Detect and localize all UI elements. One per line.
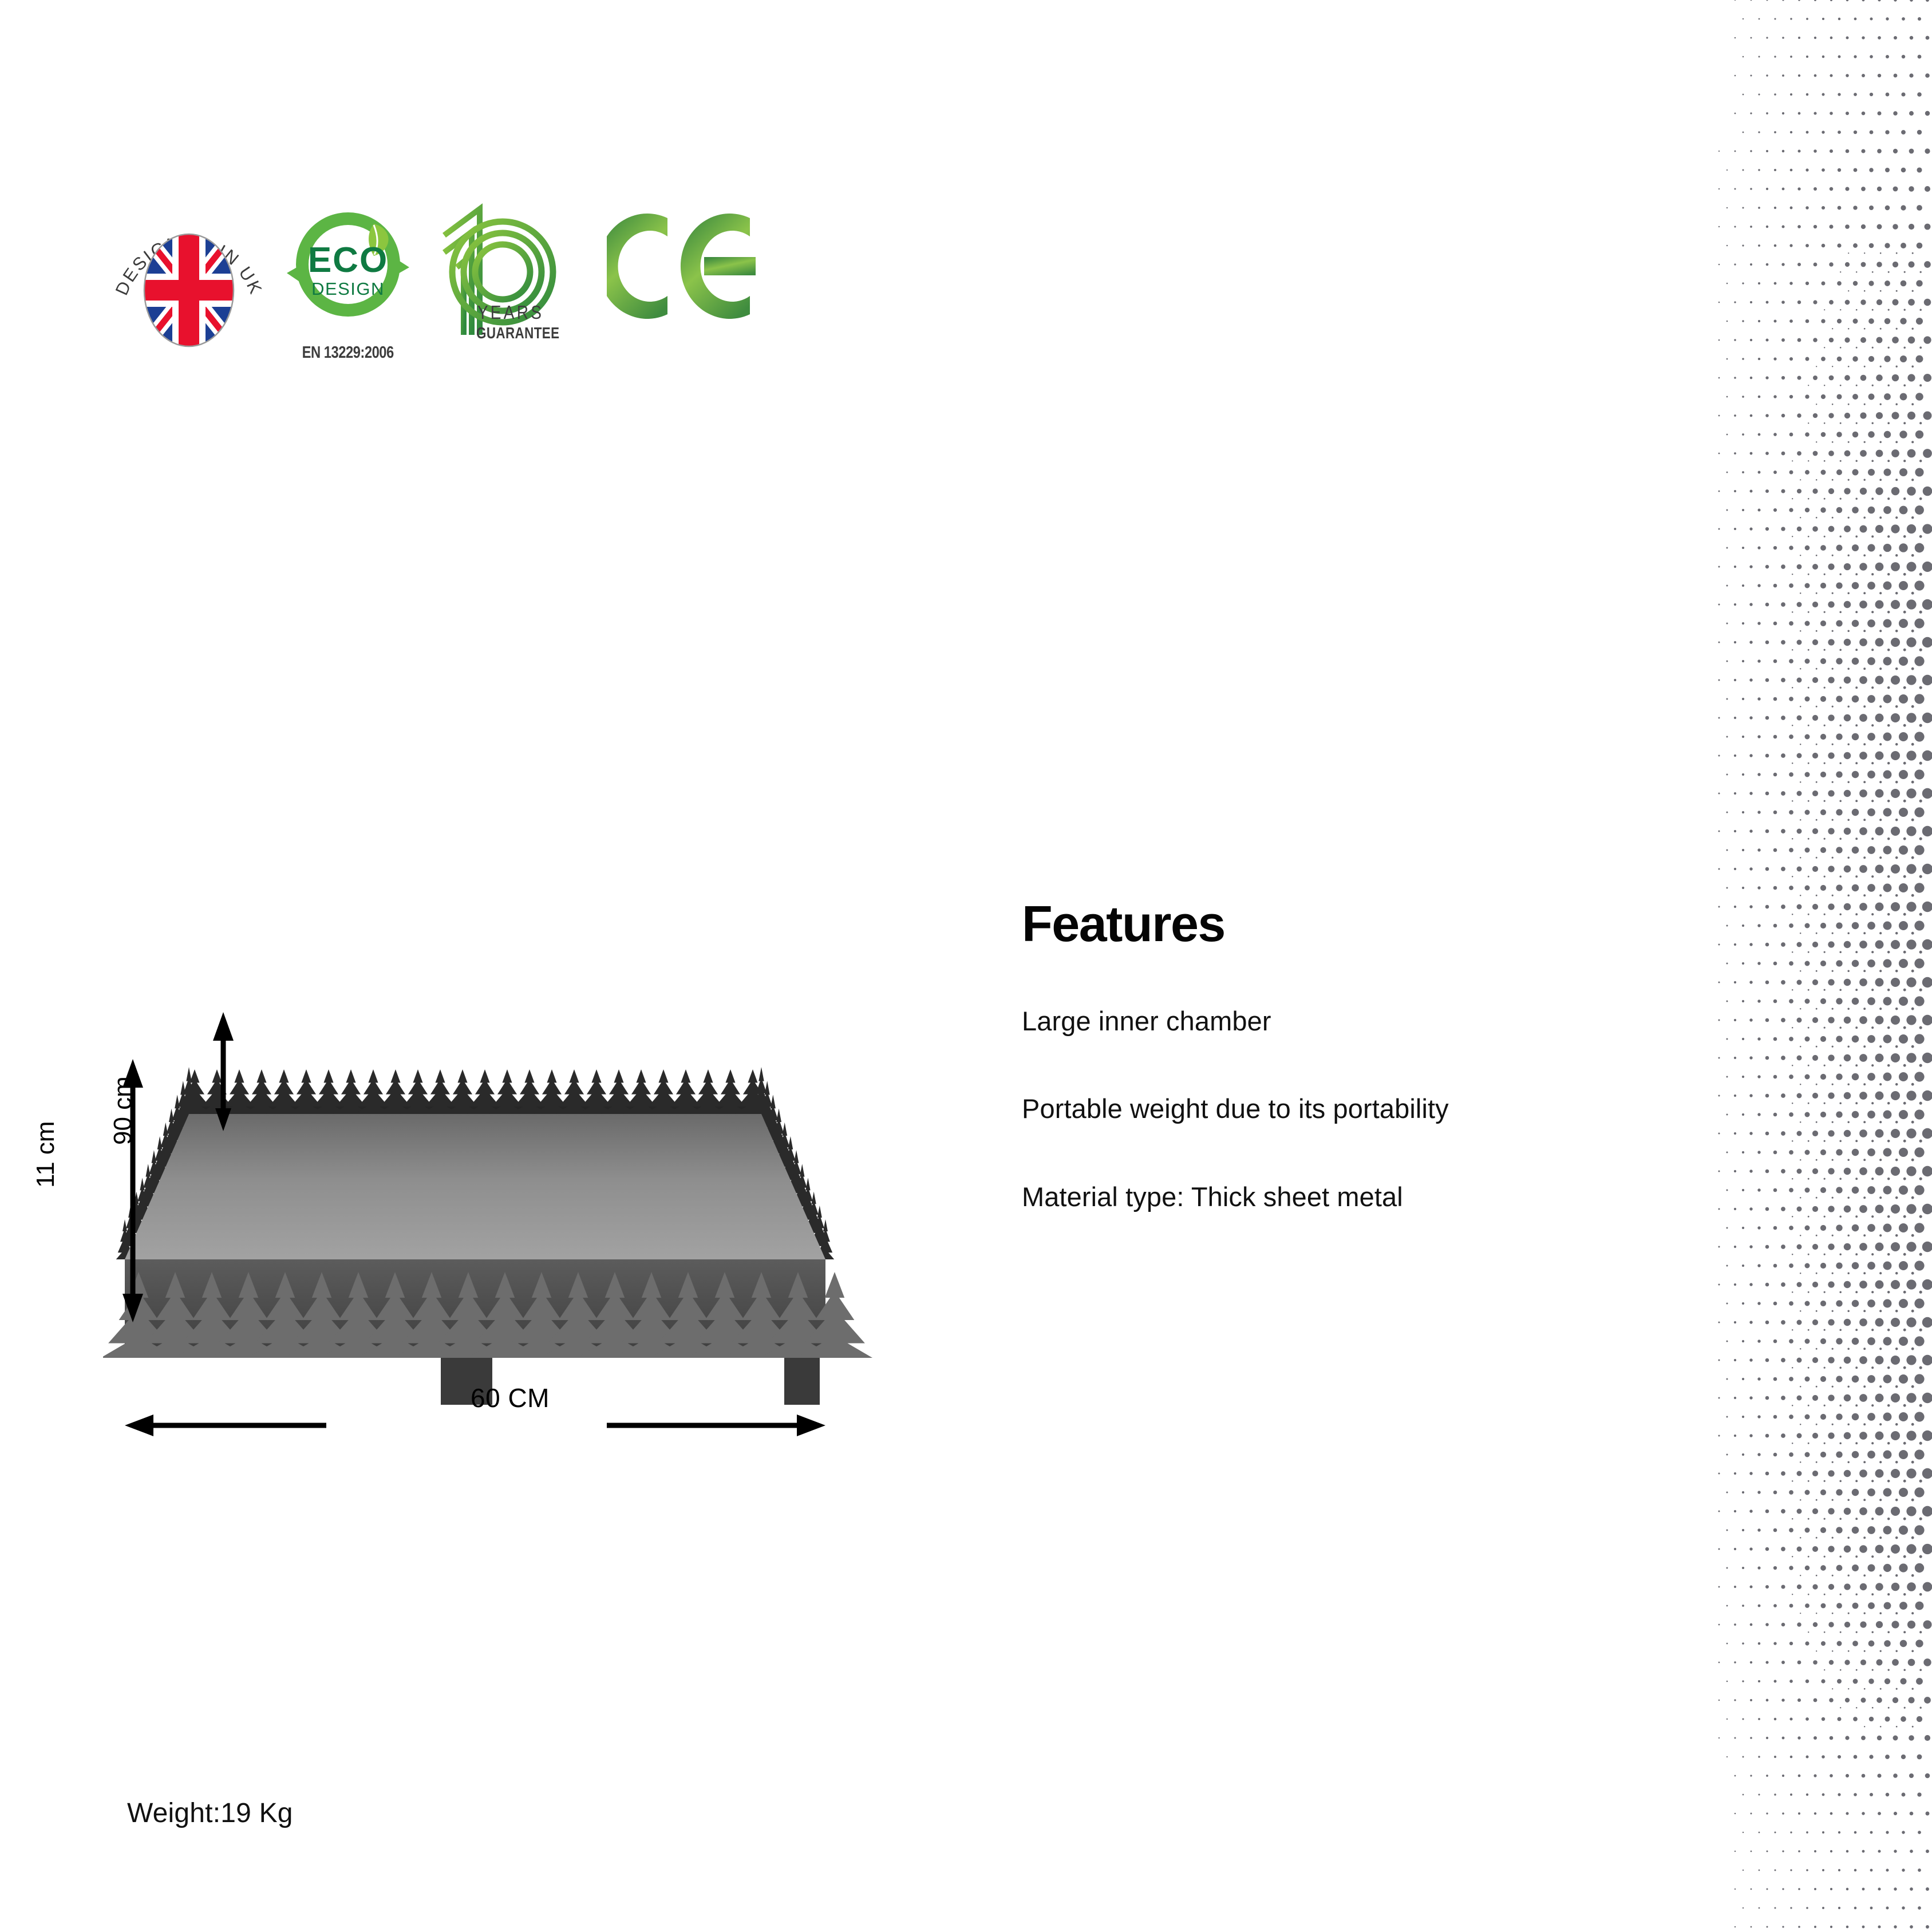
product-spec-page: DESIGNED IN UK [0,0,1932,1932]
features-heading: Features [1022,899,1652,949]
eco-design-icon: ECO DESIGN EN 13229:2006 [276,203,420,375]
ce-mark-icon [598,209,764,346]
arrow-60cm-head-right [797,1415,825,1436]
feature-item: Portable weight due to its portability [1022,1093,1652,1125]
ten-years-caption: YEARS GUARANTEE [468,302,554,342]
dimension-label-90cm: 90 cm [109,1076,137,1145]
feature-item: Large inner chamber [1022,1005,1652,1037]
certification-badge-row: DESIGNED IN UK [112,203,764,375]
years-label: YEARS [474,302,547,323]
dimension-label-11cm: 11 cm [31,1121,60,1188]
eco-standard-caption: EN 13229:2006 [302,343,394,362]
back-wall-tree-band [176,1069,772,1114]
ten-years-guarantee-icon: YEARS GUARANTEE [432,203,564,375]
svg-text:ECO: ECO [307,240,388,280]
dimension-label-60cm: 60 CM [471,1382,550,1413]
arrow-60cm-head-left [125,1415,153,1436]
product-weight-label: Weight:19 Kg [127,1797,293,1829]
guarantee-label: GUARANTEE [476,324,545,342]
designed-in-uk-icon: DESIGNED IN UK [112,203,266,364]
feature-item: Material type: Thick sheet metal [1022,1181,1652,1213]
product-dimension-diagram [103,973,916,1443]
svg-text:DESIGN: DESIGN [311,279,385,299]
tray-interior-floor [125,1114,825,1259]
arrow-90cm-head-up [213,1012,234,1041]
tray-leg-right [784,1358,820,1405]
halftone-dot-decoration [1703,0,1932,1932]
features-section: Features Large inner chamber Portable we… [1022,899,1652,1213]
